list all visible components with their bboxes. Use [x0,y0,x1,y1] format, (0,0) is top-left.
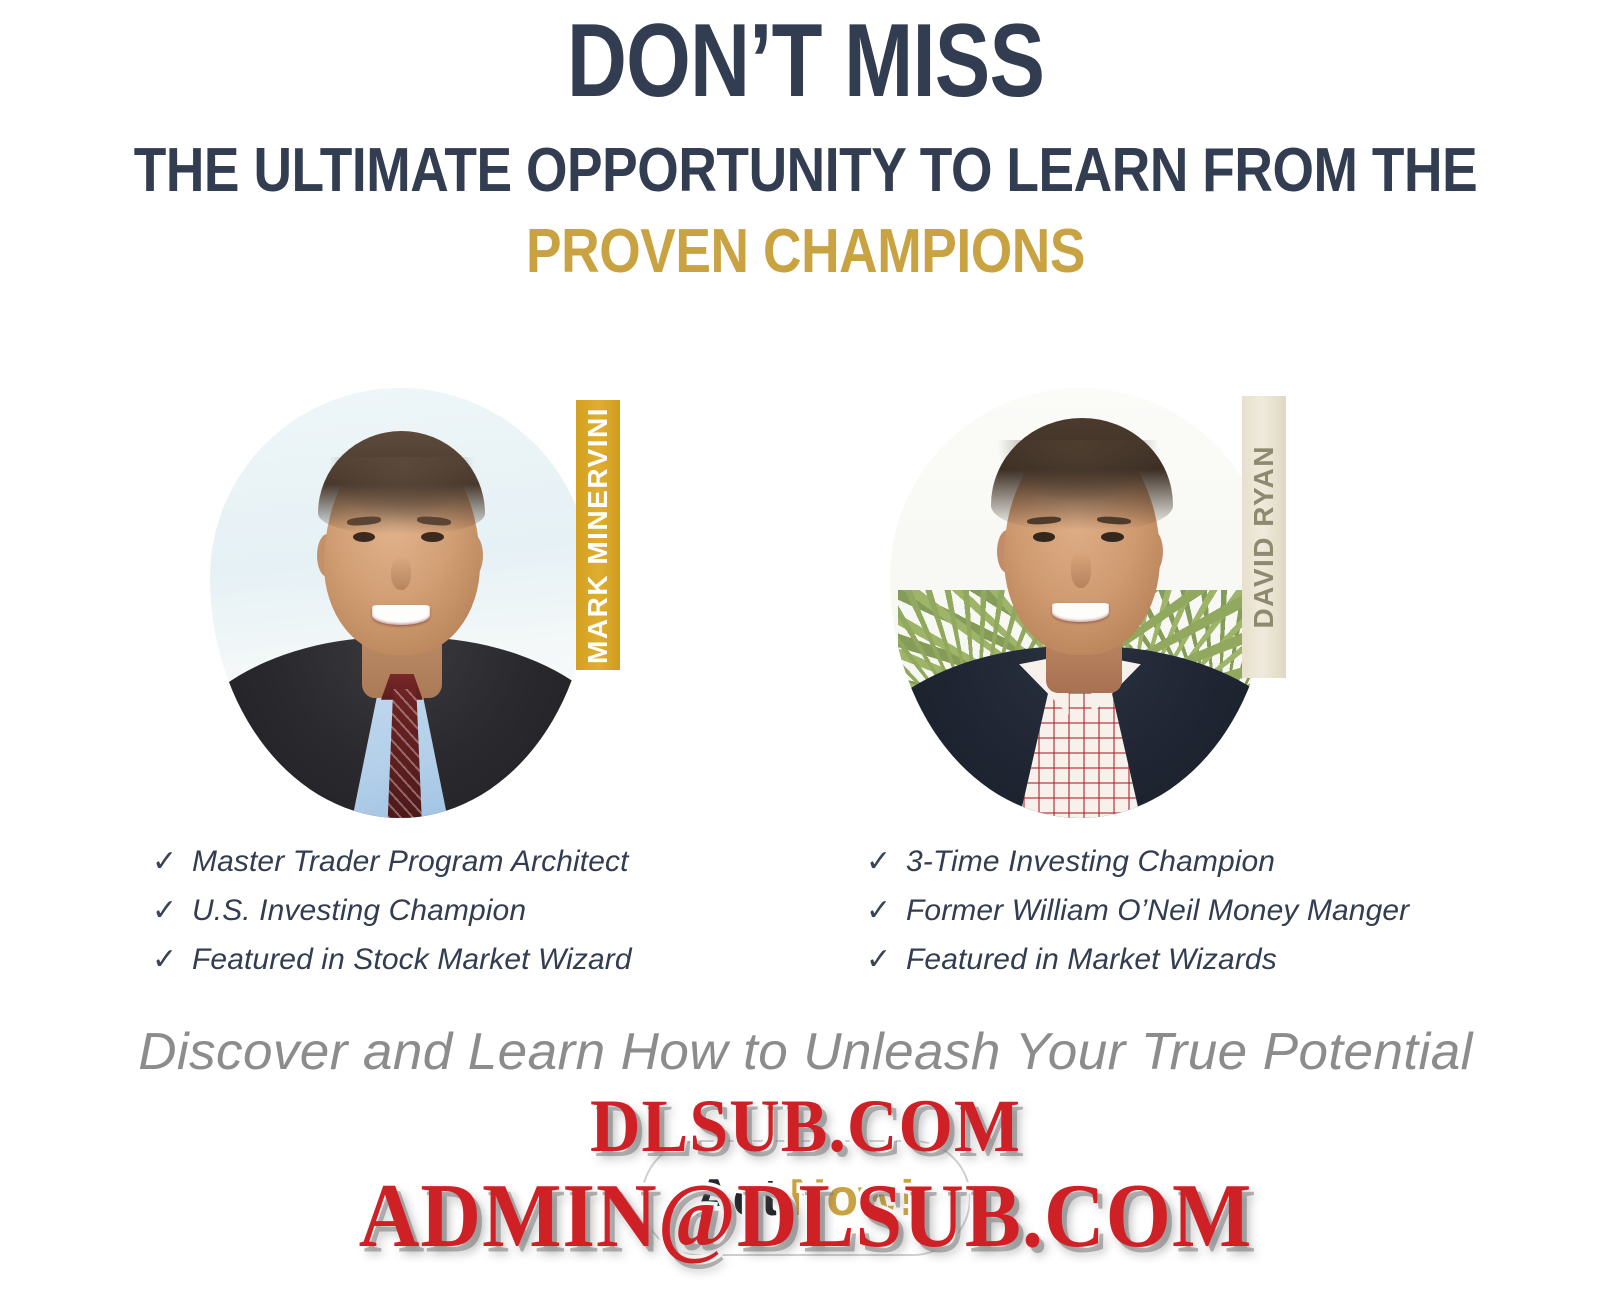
speaker-photo-mark-minervini [210,388,590,818]
hair-highlight-shape [987,440,1177,517]
credential-label: Featured in Stock Market Wizard [192,943,632,977]
headline-line-3-accent: PROVEN CHAMPIONS [113,219,1498,284]
list-item: ✓ Featured in Stock Market Wizard [152,943,632,992]
checkmark-icon: ✓ [152,896,192,926]
portrait-wrapper: MARK MINERVINI [210,388,590,818]
list-item: ✓ Featured in Market Wizards [866,943,1409,992]
headline-block: DON’T MISS THE ULTIMATE OPPORTUNITY TO L… [0,8,1611,284]
headline-line-2: THE ULTIMATE OPPORTUNITY TO LEARN FROM T… [113,138,1498,203]
nose-shape [391,556,412,590]
credential-label: Master Trader Program Architect [192,845,629,879]
checkmark-icon: ✓ [866,896,906,926]
headline-line-1: DON’T MISS [161,8,1450,114]
left-eye-shape [1033,532,1056,542]
speaker-card-mark-minervini: MARK MINERVINI [200,378,620,828]
name-banner-label: DAVID RYAN [1248,445,1280,629]
speaker-photo-david-ryan [890,388,1270,818]
checkmark-icon: ✓ [866,847,906,877]
hair-highlight-shape [315,457,490,534]
checkmark-icon: ✓ [152,847,192,877]
list-item: ✓ U.S. Investing Champion [152,894,632,943]
name-banner-david-ryan: DAVID RYAN [1242,396,1286,678]
credential-label: Featured in Market Wizards [906,943,1277,977]
name-banner-label: MARK MINERVINI [582,407,614,664]
watermark-email: ADMIN@DLSUB.COM [0,1164,1611,1269]
checkmark-icon: ✓ [866,945,906,975]
watermark-site: DLSUB.COM [0,1084,1611,1170]
credential-label: Former William O’Neil Money Manger [906,894,1409,928]
right-eye-shape [1101,532,1124,542]
speakers-row: MARK MINERVINI [0,378,1611,828]
name-banner-mark-minervini: MARK MINERVINI [576,400,620,670]
promo-banner-page: DON’T MISS THE ULTIMATE OPPORTUNITY TO L… [0,0,1611,1291]
credentials-list-david-ryan: ✓ 3-Time Investing Champion ✓ Former Wil… [866,845,1409,992]
credential-label: 3-Time Investing Champion [906,845,1275,879]
list-item: ✓ Former William O’Neil Money Manger [866,894,1409,943]
list-item: ✓ 3-Time Investing Champion [866,845,1409,894]
smile-shape [372,605,431,625]
tagline: Discover and Learn How to Unleash Your T… [0,1022,1611,1082]
smile-shape [1052,603,1109,622]
portrait-wrapper: DAVID RYAN [890,388,1270,818]
list-item: ✓ Master Trader Program Architect [152,845,632,894]
speaker-card-david-ryan: DAVID RYAN [880,378,1300,828]
credentials-list-mark-minervini: ✓ Master Trader Program Architect ✓ U.S.… [152,845,632,992]
checkmark-icon: ✓ [152,945,192,975]
credential-label: U.S. Investing Champion [192,894,526,928]
nose-shape [1071,551,1092,588]
